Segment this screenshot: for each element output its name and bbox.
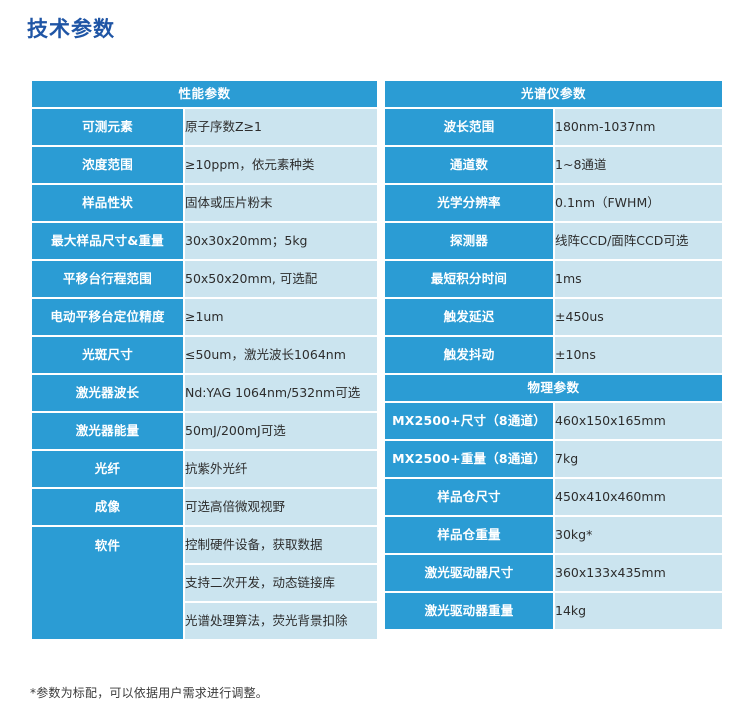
row-label: 触发延迟: [385, 299, 553, 335]
table-row: 激光驱动器重量 14kg: [385, 593, 722, 629]
table-row: 可测元素 原子序数Z≥1: [32, 109, 377, 145]
row-value: 支持二次开发，动态链接库: [185, 565, 377, 601]
row-value: 固体或压片粉末: [185, 185, 377, 221]
row-value: 原子序数Z≥1: [185, 109, 377, 145]
table-row: 触发延迟 ±450us: [385, 299, 722, 335]
table-row: MX2500+重量（8通道） 7kg: [385, 441, 722, 477]
row-value: 7kg: [555, 441, 722, 477]
table-header-row: 性能参数: [32, 81, 377, 107]
row-label: 最大样品尺寸&重量: [32, 223, 183, 259]
table-row: 电动平移台定位精度 ≥1um: [32, 299, 377, 335]
row-label: 触发抖动: [385, 337, 553, 373]
row-label: MX2500+重量（8通道）: [385, 441, 553, 477]
row-value: 450x410x460mm: [555, 479, 722, 515]
row-value: 光谱处理算法，荧光背景扣除: [185, 603, 377, 639]
row-label: 激光器波长: [32, 375, 183, 411]
table-row: 触发抖动 ±10ns: [385, 337, 722, 373]
row-label: 样品性状: [32, 185, 183, 221]
performance-parameters-table: 性能参数 可测元素 原子序数Z≥1 浓度范围 ≥10ppm，依元素种类 样品性状…: [30, 79, 379, 641]
table-row: 样品仓尺寸 450x410x460mm: [385, 479, 722, 515]
row-label: 成像: [32, 489, 183, 525]
table-row: 激光驱动器尺寸 360x133x435mm: [385, 555, 722, 591]
row-label: 激光器能量: [32, 413, 183, 449]
row-label: 光纤: [32, 451, 183, 487]
row-label: MX2500+尺寸（8通道）: [385, 403, 553, 439]
row-value: 1ms: [555, 261, 722, 297]
table-row: 浓度范围 ≥10ppm，依元素种类: [32, 147, 377, 183]
row-value: 50x50x20mm, 可选配: [185, 261, 377, 297]
row-value: 控制硬件设备，获取数据: [185, 527, 377, 563]
table-row: 成像 可选高倍微观视野: [32, 489, 377, 525]
table-row: 最大样品尺寸&重量 30x30x20mm；5kg: [32, 223, 377, 259]
table-header-row: 光谱仪参数: [385, 81, 722, 107]
row-value: 30x30x20mm；5kg: [185, 223, 377, 259]
row-value: 180nm-1037nm: [555, 109, 722, 145]
table-row: 最短积分时间 1ms: [385, 261, 722, 297]
row-value: ≥1um: [185, 299, 377, 335]
table-row: 光纤 抗紫外光纤: [32, 451, 377, 487]
row-value: 460x150x165mm: [555, 403, 722, 439]
table-row: 探测器 线阵CCD/面阵CCD可选: [385, 223, 722, 259]
row-label: 波长范围: [385, 109, 553, 145]
table-row: 激光器波长 Nd:YAG 1064nm/532nm可选: [32, 375, 377, 411]
row-value: 360x133x435mm: [555, 555, 722, 591]
row-label: 可测元素: [32, 109, 183, 145]
row-label: 探测器: [385, 223, 553, 259]
row-label: 光学分辨率: [385, 185, 553, 221]
table-section-header-row: 物理参数: [385, 375, 722, 401]
table-row: 样品性状 固体或压片粉末: [32, 185, 377, 221]
row-label: 激光驱动器尺寸: [385, 555, 553, 591]
row-label: 最短积分时间: [385, 261, 553, 297]
row-label-software: 软件: [32, 527, 183, 639]
row-value: Nd:YAG 1064nm/532nm可选: [185, 375, 377, 411]
table-row: 波长范围 180nm-1037nm: [385, 109, 722, 145]
row-value: 50mJ/200mJ可选: [185, 413, 377, 449]
row-label: 浓度范围: [32, 147, 183, 183]
page-title: 技术参数: [27, 14, 115, 44]
row-value: ±10ns: [555, 337, 722, 373]
row-label: 平移台行程范围: [32, 261, 183, 297]
row-value: 0.1nm（FWHM）: [555, 185, 722, 221]
row-value: 14kg: [555, 593, 722, 629]
table-row: 激光器能量 50mJ/200mJ可选: [32, 413, 377, 449]
row-label: 样品仓尺寸: [385, 479, 553, 515]
table-row: 光学分辨率 0.1nm（FWHM）: [385, 185, 722, 221]
row-value: 线阵CCD/面阵CCD可选: [555, 223, 722, 259]
spec-tables-container: 性能参数 可测元素 原子序数Z≥1 浓度范围 ≥10ppm，依元素种类 样品性状…: [30, 79, 720, 641]
spectrometer-parameters-table: 光谱仪参数 波长范围 180nm-1037nm 通道数 1~8通道 光学分辨率 …: [383, 79, 724, 631]
row-value: 30kg*: [555, 517, 722, 553]
row-label: 样品仓重量: [385, 517, 553, 553]
table-row: 平移台行程范围 50x50x20mm, 可选配: [32, 261, 377, 297]
row-value: 可选高倍微观视野: [185, 489, 377, 525]
row-value: ≥10ppm，依元素种类: [185, 147, 377, 183]
row-label: 通道数: [385, 147, 553, 183]
left-table-header: 性能参数: [32, 81, 377, 107]
row-value: 抗紫外光纤: [185, 451, 377, 487]
row-label: 电动平移台定位精度: [32, 299, 183, 335]
row-label: 激光驱动器重量: [385, 593, 553, 629]
footnote-text: *参数为标配，可以依据用户需求进行调整。: [30, 684, 268, 701]
row-value: 1~8通道: [555, 147, 722, 183]
table-row: 软件 控制硬件设备，获取数据: [32, 527, 377, 563]
table-row: 光斑尺寸 ≤50um，激光波长1064nm: [32, 337, 377, 373]
row-label: 光斑尺寸: [32, 337, 183, 373]
table-row: 样品仓重量 30kg*: [385, 517, 722, 553]
row-value: ≤50um，激光波长1064nm: [185, 337, 377, 373]
row-value: ±450us: [555, 299, 722, 335]
spec-sheet-page: 技术参数 性能参数 可测元素 原子序数Z≥1 浓度范围 ≥10ppm，依元素种类…: [0, 0, 750, 718]
right-table-header: 光谱仪参数: [385, 81, 722, 107]
table-row: MX2500+尺寸（8通道） 460x150x165mm: [385, 403, 722, 439]
physical-parameters-header: 物理参数: [385, 375, 722, 401]
table-row: 通道数 1~8通道: [385, 147, 722, 183]
